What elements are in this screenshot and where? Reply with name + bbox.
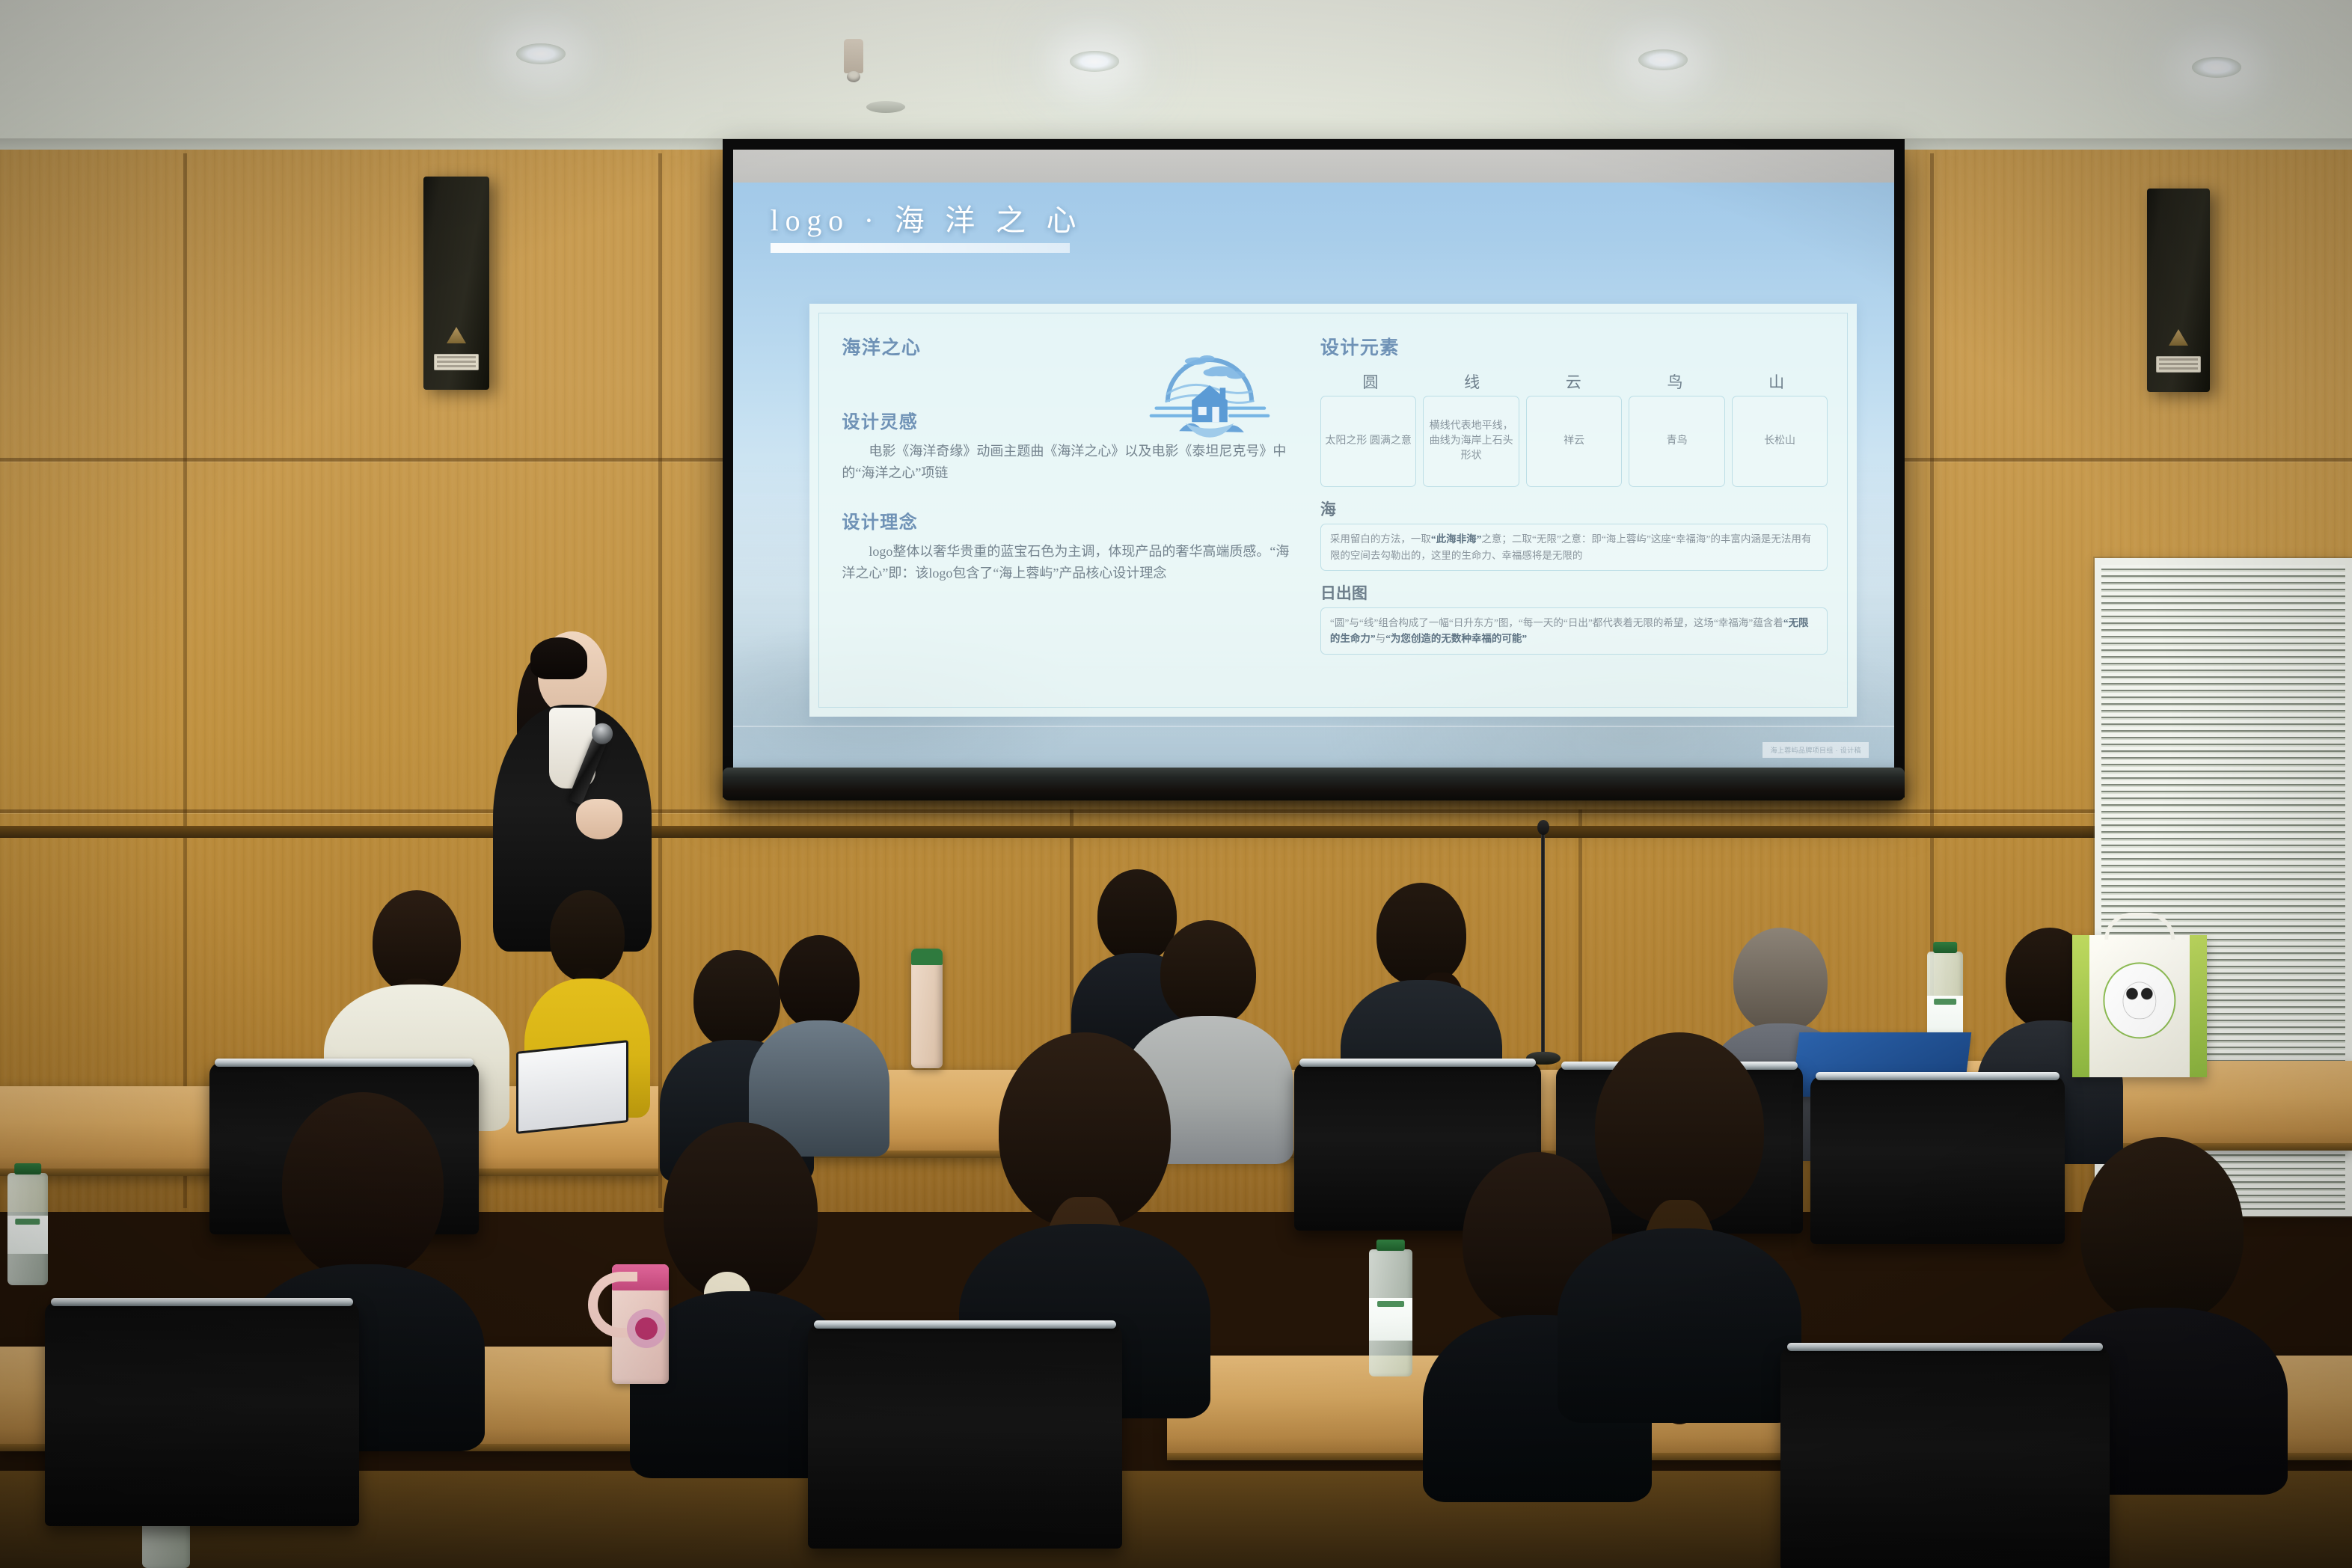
- bottle-label: [1927, 996, 1963, 1035]
- screen-roller-bar: [723, 768, 1905, 800]
- panda-logo-icon: [2103, 963, 2175, 1038]
- attendee-head: [282, 1092, 444, 1279]
- speaker-label: [434, 354, 479, 370]
- slide-title: logo · 海 洋 之 心: [771, 196, 1083, 239]
- right-wall-speaker: [2147, 189, 2210, 392]
- sea-body: 采用留白的方法，一取“此海非海”之意；二取“无限”之意：即“海上蓉屿”这座“幸福…: [1330, 531, 1818, 563]
- wall-vseam-1: [183, 153, 187, 1208]
- attendee-head: [779, 935, 860, 1029]
- attendee-head: [1376, 883, 1466, 986]
- element-cell-text: 长松山: [1764, 434, 1795, 449]
- element-cell-mountain: 长松山: [1732, 396, 1828, 487]
- wall-trim-band: [0, 826, 2352, 838]
- downlight-4: [2192, 57, 2241, 78]
- bottle-label: [1369, 1298, 1412, 1341]
- chair-mid-4[interactable]: [1810, 1076, 2065, 1244]
- inspiration-body: 电影《海洋奇缘》动画主题曲《海洋之心》以及电影《泰坦尼克号》中的“海洋之心”项链: [842, 441, 1302, 484]
- sea-body-box: 采用留白的方法，一取“此海非海”之意；二取“无限”之意：即“海上蓉屿”这座“幸福…: [1320, 524, 1828, 571]
- tumbler-emblem-icon: [627, 1309, 666, 1348]
- element-cell-text: 太阳之形 圆满之意: [1325, 434, 1412, 449]
- slide-left-column: 海洋之心: [819, 313, 1312, 707]
- slide-top-band: [733, 150, 1894, 183]
- sunrise-body-box: “圆”与“线”组合构成了一幅“日升东方”图，“每一天的“日出”都代表着无限的希望…: [1320, 607, 1828, 655]
- element-cell-text: 青鸟: [1667, 434, 1688, 449]
- element-cell-line: 横线代表地平线，曲线为海岸上石头形状: [1423, 396, 1519, 487]
- water-bottle-front: [1369, 1249, 1412, 1376]
- panda-paper-tote-bag: [2072, 935, 2207, 1077]
- left-wall-speaker: [423, 177, 489, 390]
- element-cell-text: 横线代表地平线，曲线为海岸上石头形状: [1427, 419, 1515, 465]
- element-header-cloud: 云: [1523, 370, 1625, 393]
- slide-content-card: 海洋之心: [809, 304, 1857, 717]
- element-cell-bird: 青鸟: [1629, 396, 1724, 487]
- smoke-detector: [866, 101, 905, 113]
- attendee-head: [664, 1122, 818, 1302]
- slide-card-border: 海洋之心: [818, 313, 1848, 708]
- sunrise-body: “圆”与“线”组合构成了一幅“日升东方”图，“每一天的“日出”都代表着无限的希望…: [1330, 615, 1818, 647]
- ceiling: [0, 0, 2352, 153]
- attendee-coat: [1558, 1228, 1801, 1423]
- element-header-line: 线: [1422, 370, 1524, 393]
- chair-front-1[interactable]: [45, 1302, 359, 1526]
- presentation-slide: logo · 海 洋 之 心 海洋之心: [733, 150, 1894, 780]
- attendee-front-right-ponytail: [1556, 1032, 1803, 1421]
- conference-room-scene: logo · 海 洋 之 心 海洋之心: [0, 0, 2352, 1568]
- sea-heading: 海: [1320, 497, 1828, 520]
- design-elements-heading: 设计元素: [1320, 333, 1828, 360]
- design-elements-header-row: 圆 线 云 鸟 山: [1320, 370, 1828, 393]
- water-bottle-left: [7, 1173, 48, 1285]
- element-header-bird: 鸟: [1625, 370, 1727, 393]
- wall-seam-mid: [0, 809, 2352, 813]
- element-cell-circle: 太阳之形 圆满之意: [1320, 396, 1416, 487]
- slide-watermark: 海上蓉屿品牌项目组 · 设计稿: [1763, 742, 1868, 758]
- element-header-mount: 山: [1727, 370, 1828, 393]
- downlight-3: [1638, 49, 1688, 70]
- attendee-head: [1160, 920, 1256, 1026]
- design-elements-cell-row: 太阳之形 圆满之意 横线代表地平线，曲线为海岸上石头形状 祥云 青鸟 长松山: [1320, 396, 1828, 487]
- attendee-blue-coat: [748, 935, 890, 1145]
- slide-right-column: 设计元素 圆 线 云 鸟 山 太阳之: [1313, 313, 1847, 707]
- sprinkler-head: [844, 39, 863, 73]
- element-cell-cloud: 祥云: [1526, 396, 1622, 487]
- downlight-2: [1070, 51, 1119, 72]
- attendee-head: [2080, 1137, 2244, 1324]
- concept-body: logo整体以奢华贵重的蓝宝石色为主调，体现产品的奢华高端质感。“海洋之心”即：…: [842, 541, 1302, 584]
- open-laptop: [516, 1040, 628, 1134]
- speaker-label: [2156, 356, 2201, 373]
- presenter-hairline: [530, 637, 587, 679]
- gooseneck-microphone: [1541, 832, 1545, 1056]
- chair-front-3[interactable]: [1780, 1347, 2110, 1568]
- projection-screen-frame: logo · 海 洋 之 心 海洋之心: [723, 139, 1905, 797]
- inspiration-heading: 设计灵感: [842, 407, 1302, 433]
- speaker-logo-icon: [447, 327, 466, 343]
- beige-thermos: [911, 949, 943, 1068]
- slide-title-underline: [771, 243, 1070, 253]
- bottle-label: [7, 1216, 48, 1254]
- element-header-circle: 圆: [1320, 370, 1422, 393]
- attendee-head: [1733, 928, 1828, 1032]
- presenter-hand: [576, 799, 622, 839]
- sunrise-heading: 日出图: [1320, 581, 1828, 604]
- slide-title-block: logo · 海 洋 之 心: [771, 196, 1083, 253]
- chair-front-2[interactable]: [808, 1324, 1122, 1549]
- element-cell-text: 祥云: [1564, 434, 1584, 449]
- speaker-logo-icon: [2169, 329, 2188, 346]
- projection-screen-surface: logo · 海 洋 之 心 海洋之心: [733, 150, 1894, 780]
- downlight-1: [516, 43, 566, 64]
- concept-heading: 设计理念: [842, 507, 1302, 533]
- attendee-head: [1595, 1032, 1764, 1225]
